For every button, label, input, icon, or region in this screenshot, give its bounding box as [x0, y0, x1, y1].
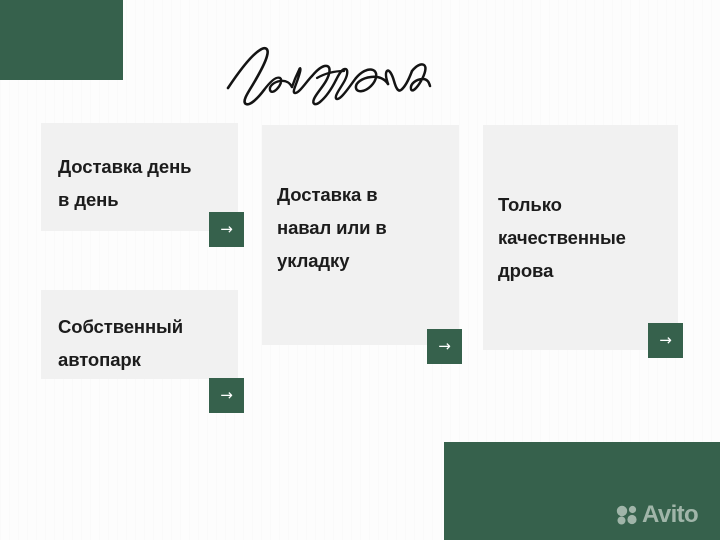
arrow-right-button[interactable]: → [427, 329, 462, 364]
arrow-right-icon: → [220, 222, 233, 237]
feature-card-title: Только качественные дрова [498, 188, 678, 287]
avito-wordmark: Avito [642, 503, 698, 527]
avito-watermark: Avito [616, 503, 698, 527]
feature-card-title: Собственный автопарк [58, 310, 233, 376]
brand-logo [222, 36, 432, 118]
arrow-right-button[interactable]: → [209, 212, 244, 247]
arrow-right-icon: → [438, 339, 451, 354]
arrow-right-icon: → [220, 388, 233, 403]
feature-card-title: Доставка день в день [58, 150, 233, 216]
arrow-right-icon: → [659, 333, 672, 348]
avito-dots-icon [616, 505, 638, 525]
slide-canvas: Доставка день в день → Собственный автоп… [0, 0, 720, 540]
arrow-right-button[interactable]: → [209, 378, 244, 413]
feature-card-title: Доставка в навал или в укладку [277, 178, 457, 277]
arrow-right-button[interactable]: → [648, 323, 683, 358]
decor-block-top-left [0, 0, 123, 80]
